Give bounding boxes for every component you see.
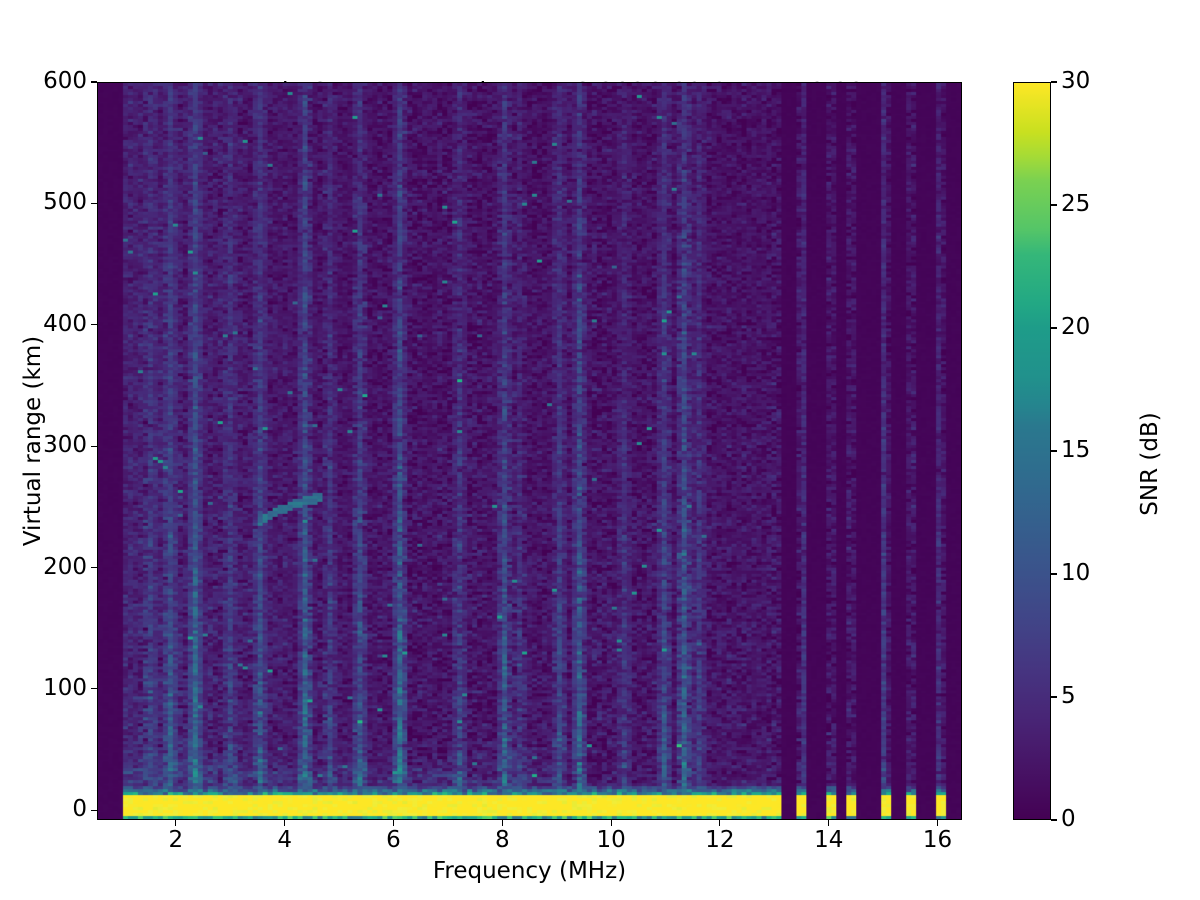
y-tick-mark (91, 688, 97, 689)
x-tick-label: 10 (571, 829, 651, 852)
x-tick-mark (937, 820, 938, 826)
x-tick-label: 2 (136, 829, 216, 852)
y-tick-label: 400 (43, 313, 87, 336)
colorbar-tick-label: 0 (1061, 808, 1076, 831)
colorbar-tick-label: 25 (1061, 193, 1090, 216)
y-tick-label: 600 (43, 70, 87, 93)
colorbar-tick-mark (1051, 696, 1057, 697)
y-tick-mark (91, 810, 97, 811)
y-tick-label: 200 (43, 556, 87, 579)
x-tick-mark (828, 820, 829, 826)
ionogram-heatmap (98, 83, 961, 819)
x-tick-mark (175, 820, 176, 826)
colorbar-tick-label: 10 (1061, 562, 1090, 585)
x-tick-label: 16 (898, 829, 978, 852)
y-tick-label: 100 (43, 677, 87, 700)
colorbar-tick-label: 15 (1061, 439, 1090, 462)
y-tick-mark (91, 203, 97, 204)
colorbar-tick-mark (1051, 204, 1057, 205)
ionogram-axes (97, 82, 962, 820)
colorbar (1013, 82, 1051, 820)
colorbar-tick-label: 20 (1061, 316, 1090, 339)
x-tick-mark (393, 820, 394, 826)
y-tick-label: 0 (72, 798, 87, 821)
x-axis-label: Frequency (MHz) (97, 858, 962, 884)
colorbar-tick-mark (1051, 450, 1057, 451)
x-tick-label: 8 (462, 829, 542, 852)
x-tick-label: 4 (245, 829, 325, 852)
colorbar-gradient (1014, 83, 1050, 819)
y-tick-label: 500 (43, 191, 87, 214)
y-tick-mark (91, 324, 97, 325)
x-tick-mark (719, 820, 720, 826)
x-tick-label: 14 (789, 829, 869, 852)
ionogram-figure: IRF Uppsala SDR Ionosonde UP158 2026-03-… (0, 0, 1200, 900)
x-tick-mark (502, 820, 503, 826)
y-axis-label: Virtual range (km) (20, 231, 46, 651)
y-tick-mark (91, 567, 97, 568)
y-tick-mark (91, 446, 97, 447)
y-tick-mark (91, 81, 97, 82)
colorbar-tick-label: 30 (1061, 70, 1090, 93)
colorbar-tick-mark (1051, 327, 1057, 328)
colorbar-tick-mark (1051, 819, 1057, 820)
y-tick-label: 300 (43, 434, 87, 457)
x-tick-label: 6 (353, 829, 433, 852)
colorbar-tick-mark (1051, 573, 1057, 574)
x-tick-mark (284, 820, 285, 826)
colorbar-tick-mark (1051, 81, 1057, 82)
x-tick-label: 12 (680, 829, 760, 852)
x-tick-mark (611, 820, 612, 826)
colorbar-label: SNR (dB) (1137, 314, 1163, 614)
colorbar-tick-label: 5 (1061, 685, 1076, 708)
